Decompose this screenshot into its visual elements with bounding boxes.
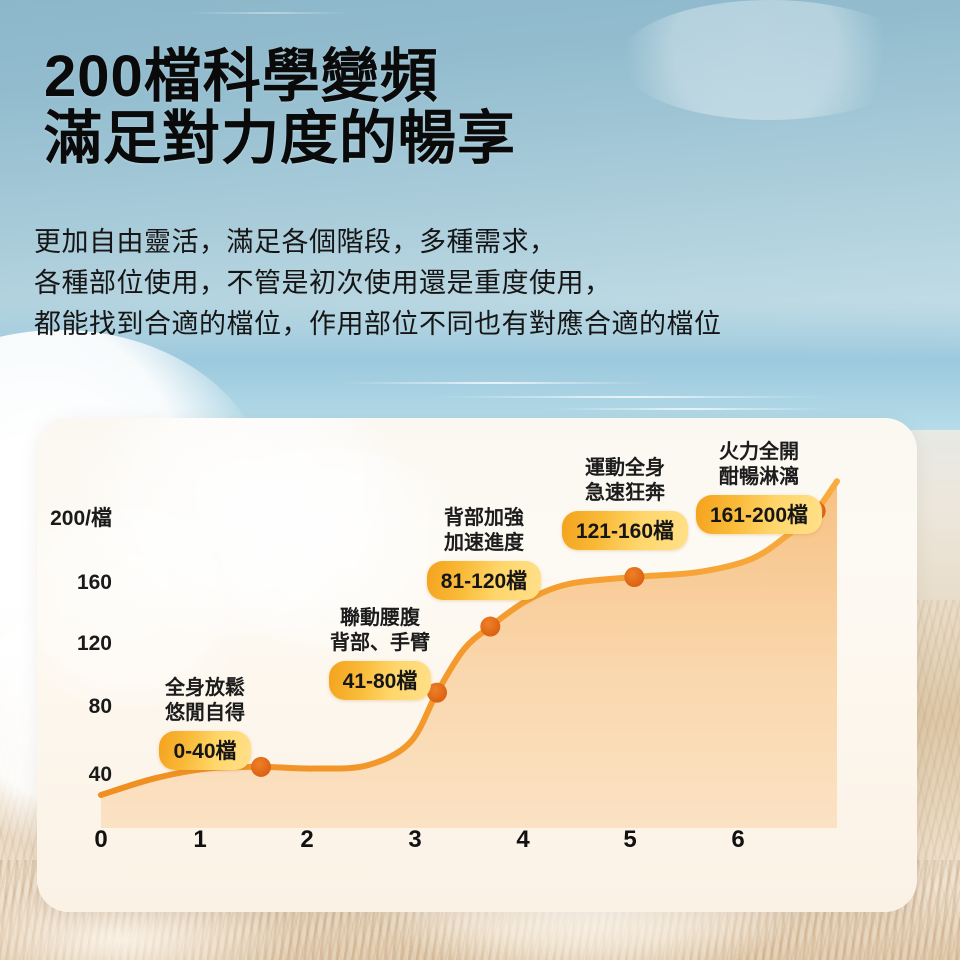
- annotation-group-1: 全身放鬆 悠閒自得 0-40檔: [125, 676, 285, 770]
- y-axis-tick-120: 120: [37, 632, 112, 656]
- annotation-2-line-1: 聯動腰腹: [285, 606, 475, 631]
- x-axis-tick-2: 2: [287, 826, 327, 854]
- chart-card: 200/檔 160 120 80 40 0 1 2 3 4 5 6 全身放鬆 悠…: [37, 418, 917, 912]
- annotation-1-line-2: 悠閒自得: [125, 701, 285, 726]
- badge-161-200[interactable]: 161-200檔: [696, 495, 822, 534]
- cloud-wisp: [180, 12, 360, 14]
- badge-81-120[interactable]: 81-120檔: [427, 561, 541, 600]
- headline-line-1: 200檔科學變頻: [44, 46, 924, 108]
- badge-41-80[interactable]: 41-80檔: [329, 661, 432, 700]
- headline-line-2: 滿足對力度的暢享: [44, 108, 924, 170]
- annotation-5-line-1: 火力全開: [659, 440, 859, 465]
- annotation-2-line-2: 背部、手臂: [285, 631, 475, 656]
- chart-data-point-3[interactable]: [480, 617, 500, 637]
- cloud-wisp: [540, 408, 840, 410]
- y-axis-tick-200: 200/檔: [37, 502, 112, 532]
- x-axis-tick-0: 0: [81, 826, 121, 854]
- x-axis-tick-6: 6: [718, 826, 758, 854]
- annotation-5-line-2: 酣暢淋漓: [659, 465, 859, 490]
- subtitle-paragraph: 更加自由靈活，滿足各個階段，多種需求， 各種部位使用，不管是初次使用還是重度使用…: [34, 222, 934, 345]
- annotation-1-line-1: 全身放鬆: [125, 676, 285, 701]
- cloud-wisp: [420, 396, 840, 398]
- subcopy-line-1: 更加自由靈活，滿足各個階段，多種需求，: [34, 222, 934, 263]
- gear-level-chart: 200/檔 160 120 80 40 0 1 2 3 4 5 6 全身放鬆 悠…: [37, 418, 917, 912]
- annotation-group-5: 火力全開 酣暢淋漓 161-200檔: [659, 440, 859, 534]
- page-title: 200檔科學變頻 滿足對力度的暢享: [44, 46, 924, 170]
- x-axis-tick-5: 5: [610, 826, 650, 854]
- x-axis-tick-1: 1: [180, 826, 220, 854]
- y-axis-tick-160: 160: [37, 571, 112, 595]
- x-axis-tick-3: 3: [395, 826, 435, 854]
- y-axis-tick-80: 80: [37, 695, 112, 719]
- badge-0-40[interactable]: 0-40檔: [159, 731, 250, 770]
- chart-data-point-4[interactable]: [624, 567, 644, 587]
- annotation-group-2: 聯動腰腹 背部、手臂 41-80檔: [285, 606, 475, 700]
- y-axis-tick-40: 40: [37, 763, 112, 787]
- x-axis-tick-4: 4: [503, 826, 543, 854]
- subcopy-line-3: 都能找到合適的檔位，作用部位不同也有對應合適的檔位: [34, 304, 934, 345]
- cloud-wisp: [330, 382, 660, 384]
- subcopy-line-2: 各種部位使用，不管是初次使用還是重度使用，: [34, 263, 934, 304]
